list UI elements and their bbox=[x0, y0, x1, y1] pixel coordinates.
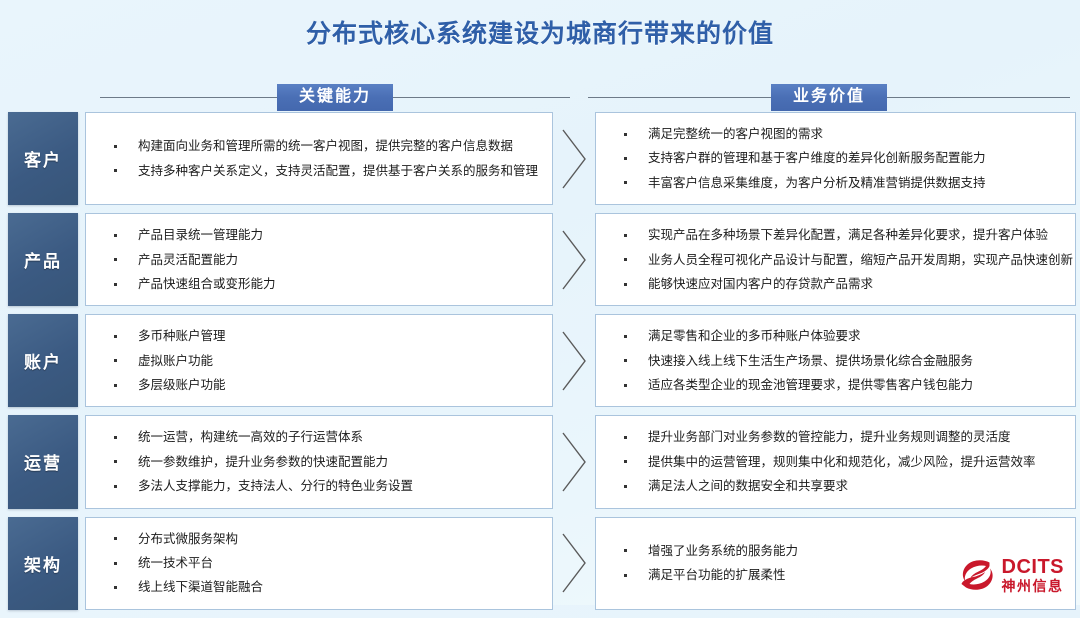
list-item: 满足法人之间的数据安全和共享要求 bbox=[610, 474, 1063, 498]
bullet-list-capability: 多币种账户管理虚拟账户功能多层级账户功能 bbox=[100, 324, 540, 397]
value-panel: 实现产品在多种场景下差异化配置，满足各种差异化要求，提升客户体验业务人员全程可视… bbox=[595, 213, 1076, 306]
row-label-架构: 架构 bbox=[8, 517, 78, 610]
bullet-list-capability: 统一运营，构建统一高效的子行运营体系统一参数维护，提升业务参数的快速配置能力多法… bbox=[100, 425, 540, 498]
row-label-text: 运营 bbox=[24, 449, 62, 474]
column-headers: 关键能力 业务价值 bbox=[0, 82, 1080, 112]
table-row: 产品产品目录统一管理能力产品灵活配置能力产品快速组合或变形能力实现产品在多种场景… bbox=[0, 213, 1080, 306]
list-item: 实现产品在多种场景下差异化配置，满足各种差异化要求，提升客户体验 bbox=[610, 223, 1063, 247]
chevron-right-icon bbox=[553, 213, 595, 306]
list-item: 多法人支撑能力，支持法人、分行的特色业务设置 bbox=[100, 474, 540, 498]
list-item: 提供集中的运营管理，规则集中化和规范化，减少风险，提升运营效率 bbox=[610, 450, 1063, 474]
header-rule-left bbox=[588, 97, 771, 98]
list-item: 分布式微服务架构 bbox=[100, 527, 540, 551]
chevron-right-icon bbox=[553, 415, 595, 508]
chevron-right-icon bbox=[553, 517, 595, 610]
table-row: 账户多币种账户管理虚拟账户功能多层级账户功能满足零售和企业的多币种账户体验要求快… bbox=[0, 314, 1080, 407]
header-rule-right bbox=[887, 97, 1070, 98]
value-panel: 满足零售和企业的多币种账户体验要求快速接入线上线下生活生产场景、提供场景化综合金… bbox=[595, 314, 1076, 407]
chevron-right-icon bbox=[553, 112, 595, 205]
list-item: 满足完整统一的客户视图的需求 bbox=[610, 122, 1063, 146]
list-item: 业务人员全程可视化产品设计与配置，缩短产品开发周期，实现产品快速创新 bbox=[610, 248, 1063, 272]
list-item: 提升业务部门对业务参数的管控能力，提升业务规则调整的灵活度 bbox=[610, 425, 1063, 449]
row-label-账户: 账户 bbox=[8, 314, 78, 407]
page-title: 分布式核心系统建设为城商行带来的价值 bbox=[0, 14, 1080, 50]
list-item: 产品快速组合或变形能力 bbox=[100, 272, 540, 296]
bullet-list-value: 实现产品在多种场景下差异化配置，满足各种差异化要求，提升客户体验业务人员全程可视… bbox=[610, 223, 1063, 296]
value-panel: 提升业务部门对业务参数的管控能力，提升业务规则调整的灵活度提供集中的运营管理，规… bbox=[595, 415, 1076, 508]
list-item: 构建面向业务和管理所需的统一客户视图，提供完整的客户信息数据 bbox=[100, 134, 540, 158]
capability-panel: 产品目录统一管理能力产品灵活配置能力产品快速组合或变形能力 bbox=[85, 213, 553, 306]
rows-container: 客户构建面向业务和管理所需的统一客户视图，提供完整的客户信息数据支持多种客户关系… bbox=[0, 112, 1080, 618]
value-panel: 满足完整统一的客户视图的需求支持客户群的管理和基于客户维度的差异化创新服务配置能… bbox=[595, 112, 1076, 205]
bullet-list-value: 满足零售和企业的多币种账户体验要求快速接入线上线下生活生产场景、提供场景化综合金… bbox=[610, 324, 1063, 397]
row-label-运营: 运营 bbox=[8, 415, 78, 508]
bullet-list-value: 满足完整统一的客户视图的需求支持客户群的管理和基于客户维度的差异化创新服务配置能… bbox=[610, 122, 1063, 195]
list-item: 统一参数维护，提升业务参数的快速配置能力 bbox=[100, 450, 540, 474]
header-rule-left bbox=[100, 97, 277, 98]
row-label-客户: 客户 bbox=[8, 112, 78, 205]
row-label-产品: 产品 bbox=[8, 213, 78, 306]
capability-panel: 分布式微服务架构统一技术平台线上线下渠道智能融合 bbox=[85, 517, 553, 610]
list-item: 产品灵活配置能力 bbox=[100, 248, 540, 272]
list-item: 丰富客户信息采集维度，为客户分析及精准营销提供数据支持 bbox=[610, 171, 1063, 195]
bullet-list-capability: 分布式微服务架构统一技术平台线上线下渠道智能融合 bbox=[100, 527, 540, 600]
row-label-text: 账户 bbox=[24, 348, 62, 373]
table-row: 运营统一运营，构建统一高效的子行运营体系统一参数维护，提升业务参数的快速配置能力… bbox=[0, 415, 1080, 508]
list-item: 统一技术平台 bbox=[100, 551, 540, 575]
row-label-text: 客户 bbox=[24, 146, 62, 171]
header-rule-right bbox=[393, 97, 570, 98]
logo-text: DCITS 神州信息 bbox=[1002, 557, 1065, 593]
bullet-list-capability: 构建面向业务和管理所需的统一客户视图，提供完整的客户信息数据支持多种客户关系定义… bbox=[100, 134, 540, 183]
list-item: 虚拟账户功能 bbox=[100, 349, 540, 373]
list-item: 产品目录统一管理能力 bbox=[100, 223, 540, 247]
list-item: 线上线下渠道智能融合 bbox=[100, 575, 540, 599]
row-label-text: 产品 bbox=[24, 247, 62, 272]
list-item: 满足零售和企业的多币种账户体验要求 bbox=[610, 324, 1063, 348]
row-label-text: 架构 bbox=[24, 551, 62, 576]
table-row: 客户构建面向业务和管理所需的统一客户视图，提供完整的客户信息数据支持多种客户关系… bbox=[0, 112, 1080, 205]
capability-panel: 构建面向业务和管理所需的统一客户视图，提供完整的客户信息数据支持多种客户关系定义… bbox=[85, 112, 553, 205]
logo-name-cn: 神州信息 bbox=[1002, 579, 1065, 593]
list-item: 统一运营，构建统一高效的子行运营体系 bbox=[100, 425, 540, 449]
capability-panel: 多币种账户管理虚拟账户功能多层级账户功能 bbox=[85, 314, 553, 407]
list-item: 能够快速应对国内客户的存贷款产品需求 bbox=[610, 272, 1063, 296]
chevron-right-icon bbox=[553, 314, 595, 407]
bullet-list-capability: 产品目录统一管理能力产品灵活配置能力产品快速组合或变形能力 bbox=[100, 223, 540, 296]
header-badge-business-value: 业务价值 bbox=[771, 84, 887, 111]
right-column-header: 业务价值 bbox=[588, 82, 1070, 112]
list-item: 支持多种客户关系定义，支持灵活配置，提供基于客户关系的服务和管理 bbox=[100, 159, 540, 183]
dcits-swirl-icon bbox=[959, 558, 995, 592]
list-item: 多层级账户功能 bbox=[100, 373, 540, 397]
capability-panel: 统一运营，构建统一高效的子行运营体系统一参数维护，提升业务参数的快速配置能力多法… bbox=[85, 415, 553, 508]
header-badge-key-capability: 关键能力 bbox=[277, 84, 393, 111]
left-column-header: 关键能力 bbox=[100, 82, 570, 112]
bullet-list-value: 提升业务部门对业务参数的管控能力，提升业务规则调整的灵活度提供集中的运营管理，规… bbox=[610, 425, 1063, 498]
list-item: 多币种账户管理 bbox=[100, 324, 540, 348]
list-item: 适应各类型企业的现金池管理要求，提供零售客户钱包能力 bbox=[610, 373, 1063, 397]
table-row: 架构分布式微服务架构统一技术平台线上线下渠道智能融合增强了业务系统的服务能力满足… bbox=[0, 517, 1080, 610]
list-item: 支持客户群的管理和基于客户维度的差异化创新服务配置能力 bbox=[610, 146, 1063, 170]
company-logo: DCITS 神州信息 bbox=[959, 557, 1065, 593]
list-item: 快速接入线上线下生活生产场景、提供场景化综合金融服务 bbox=[610, 349, 1063, 373]
logo-name-en: DCITS bbox=[1002, 557, 1065, 577]
